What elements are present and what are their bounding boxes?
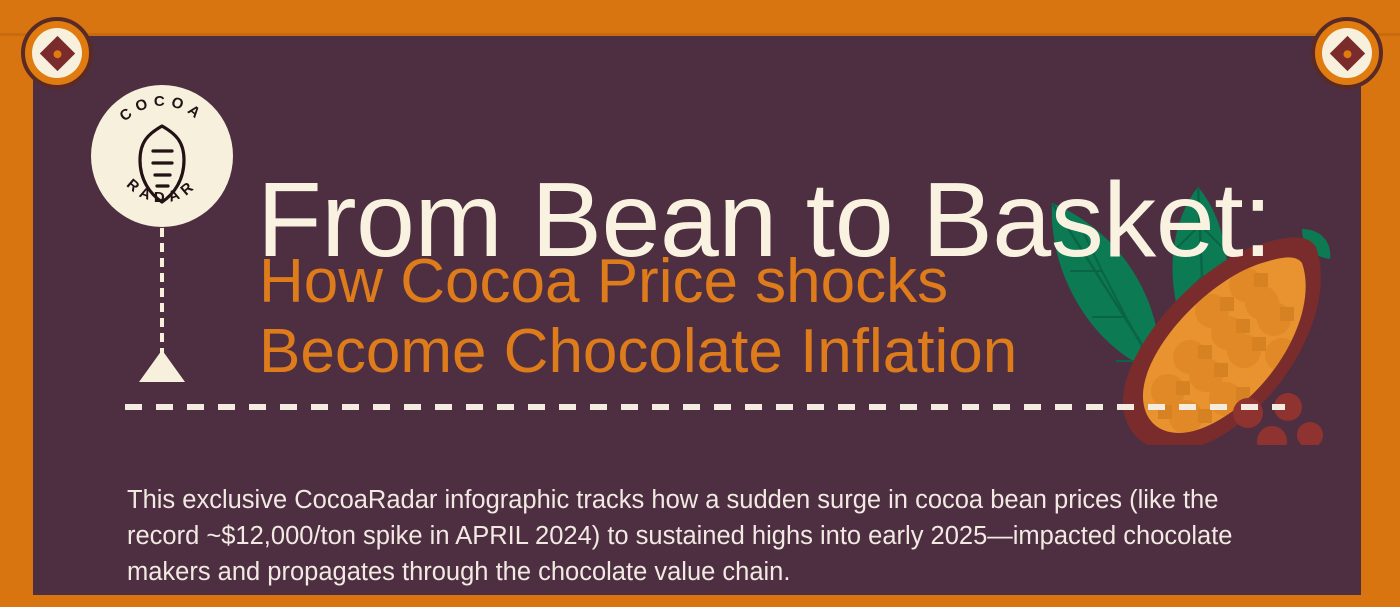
infographic-header: COCOA RADAR From Bean to Basket:	[0, 0, 1400, 607]
medallion-center-dot	[51, 47, 62, 58]
page-subtitle: How Cocoa Price shocks Become Chocolate …	[259, 247, 1017, 387]
medallion-inner-circle	[32, 28, 82, 78]
lede-paragraph: This exclusive CocoaRadar infographic tr…	[127, 482, 1287, 590]
medallion-diamond-icon	[39, 35, 74, 70]
subtitle-line-2: Become Chocolate Inflation	[259, 317, 1017, 387]
header-panel: COCOA RADAR From Bean to Basket:	[33, 36, 1361, 595]
cocoa-beans	[1233, 393, 1323, 445]
plumb-cord	[160, 228, 164, 353]
dashed-divider	[125, 404, 1285, 410]
corner-medallion-left	[21, 17, 93, 89]
medallion-center-dot	[1341, 47, 1352, 58]
plumb-bob-pendulum	[155, 228, 169, 380]
medallion-diamond-icon	[1329, 35, 1364, 70]
pod-stem	[1302, 229, 1330, 259]
cocoa-radar-logo[interactable]: COCOA RADAR	[90, 84, 234, 228]
subtitle-line-1: How Cocoa Price shocks	[259, 247, 1017, 317]
medallion-inner-circle	[1322, 28, 1372, 78]
corner-medallion-right	[1311, 17, 1383, 89]
plumb-bob-triangle	[139, 350, 185, 382]
